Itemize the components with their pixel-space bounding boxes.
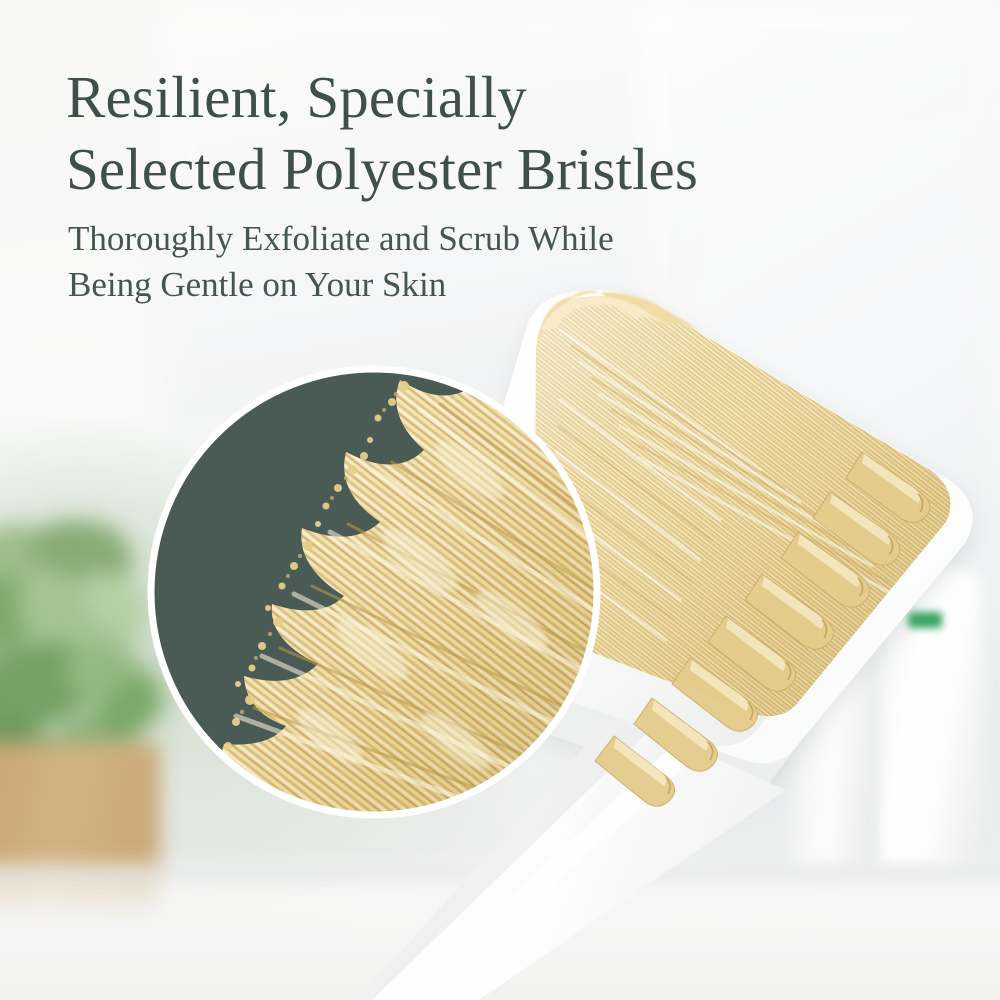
- feature-banner: Resilient, Specially Selected Polyester …: [0, 0, 1000, 1000]
- page-subtitle: Thoroughly Exfoliate and Scrub While Bei…: [68, 216, 896, 309]
- copy-block: Resilient, Specially Selected Polyester …: [66, 62, 896, 309]
- page-title: Resilient, Specially Selected Polyester …: [66, 62, 896, 206]
